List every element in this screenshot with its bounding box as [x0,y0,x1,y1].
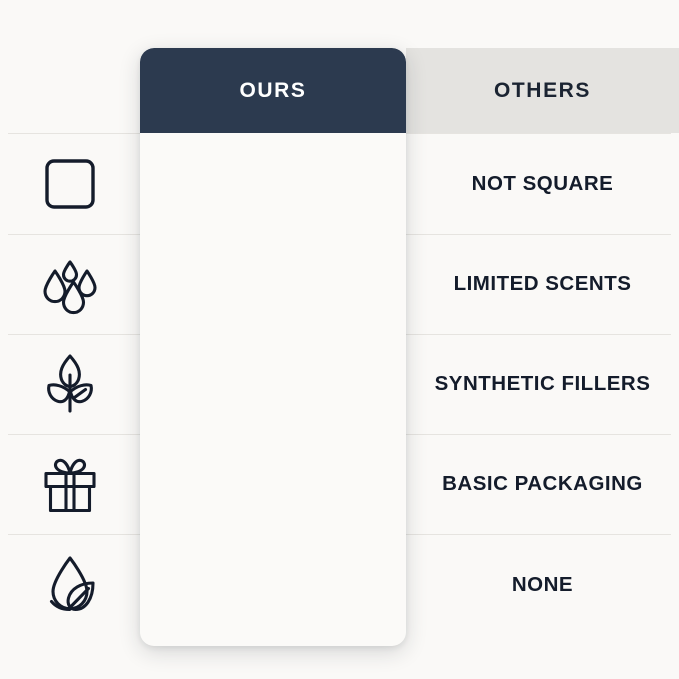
others-cell: LIMITED SCENTS [406,234,679,334]
others-cell-text: SYNTHETIC FILLERS [435,370,651,397]
others-cell: BASIC PACKAGING [406,434,679,534]
row-icon-cell [0,133,140,234]
others-cell: SYNTHETIC FILLERS [406,334,679,434]
others-cell: NOT SQUARE [406,133,679,234]
ours-header-label: OURS [239,79,306,103]
rounded-square-icon [39,153,101,215]
row-icon-cell [0,434,140,534]
others-cell-text: NOT SQUARE [472,170,614,197]
row-icon-cell [0,234,140,334]
others-cell-text: LIMITED SCENTS [454,270,632,297]
row-icon-cell [0,334,140,434]
others-cell: NONE [406,534,679,635]
gift-box-icon [35,449,105,519]
others-cell-text: NONE [512,571,573,598]
water-droplets-icon [35,249,105,319]
others-column-header: OTHERS [406,48,679,133]
others-header-label: OTHERS [494,79,591,103]
droplet-leaf-icon [35,550,105,620]
ours-column-header: OURS [140,48,406,133]
others-cell-text: BASIC PACKAGING [442,470,643,497]
comparison-table: OTHERS OURS SQUARE SHAPE NOT SQUARE [0,0,679,679]
ours-column-card: OURS [140,48,406,646]
leaf-plant-icon [35,349,105,419]
row-icon-cell [0,534,140,635]
